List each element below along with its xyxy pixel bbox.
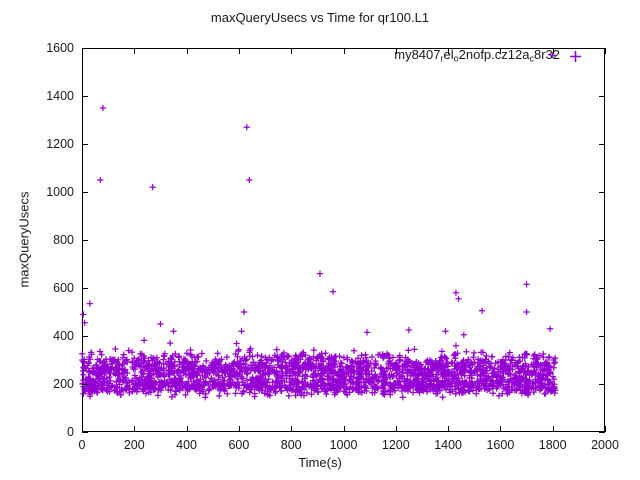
x-tick-mark (187, 48, 188, 54)
x-tick-label: 1600 (470, 438, 530, 452)
y-tick-mark (599, 384, 605, 385)
x-tick-mark (291, 426, 292, 432)
chart-canvas: maxQueryUsecs vs Time for qr100.L1 my840… (0, 0, 640, 480)
x-tick-mark (291, 48, 292, 54)
plot-area (82, 48, 605, 432)
y-tick-label: 1600 (16, 41, 74, 55)
x-axis-title: Time(s) (0, 455, 640, 470)
x-tick-mark (239, 48, 240, 54)
x-tick-mark (187, 426, 188, 432)
x-tick-label: 400 (157, 438, 217, 452)
y-tick-mark (82, 336, 88, 337)
y-tick-mark (82, 96, 88, 97)
y-tick-label: 0 (16, 425, 74, 439)
x-tick-mark (553, 48, 554, 54)
x-tick-label: 600 (209, 438, 269, 452)
x-tick-mark (344, 426, 345, 432)
y-tick-mark (82, 144, 88, 145)
x-tick-label: 2000 (575, 438, 635, 452)
y-tick-mark (599, 144, 605, 145)
x-tick-label: 0 (52, 438, 112, 452)
x-tick-label: 1400 (418, 438, 478, 452)
x-tick-mark (239, 426, 240, 432)
y-tick-mark (599, 288, 605, 289)
x-tick-mark (605, 48, 606, 54)
y-tick-mark (599, 240, 605, 241)
y-tick-label: 400 (16, 329, 74, 343)
y-tick-mark (82, 240, 88, 241)
x-tick-label: 1200 (366, 438, 426, 452)
x-tick-label: 800 (261, 438, 321, 452)
x-tick-label: 1000 (314, 438, 374, 452)
x-tick-mark (134, 48, 135, 54)
x-tick-mark (500, 48, 501, 54)
x-tick-mark (396, 48, 397, 54)
y-axis-title: maxQueryUsecs (17, 160, 32, 320)
x-tick-mark (500, 426, 501, 432)
y-tick-mark (82, 384, 88, 385)
x-tick-mark (448, 48, 449, 54)
y-tick-mark (599, 432, 605, 433)
x-tick-mark (82, 48, 83, 54)
y-tick-mark (82, 192, 88, 193)
x-tick-mark (448, 426, 449, 432)
y-tick-mark (82, 432, 88, 433)
x-tick-mark (553, 426, 554, 432)
y-tick-label: 1400 (16, 89, 74, 103)
x-tick-mark (344, 48, 345, 54)
x-tick-mark (605, 426, 606, 432)
x-tick-label: 200 (104, 438, 164, 452)
y-tick-mark (599, 192, 605, 193)
y-tick-label: 200 (16, 377, 74, 391)
y-tick-mark (599, 336, 605, 337)
x-tick-mark (134, 426, 135, 432)
y-tick-mark (599, 96, 605, 97)
x-tick-mark (82, 426, 83, 432)
y-tick-mark (82, 288, 88, 289)
x-tick-mark (396, 426, 397, 432)
x-tick-label: 1800 (523, 438, 583, 452)
page-title: maxQueryUsecs vs Time for qr100.L1 (0, 10, 640, 25)
y-tick-label: 1200 (16, 137, 74, 151)
